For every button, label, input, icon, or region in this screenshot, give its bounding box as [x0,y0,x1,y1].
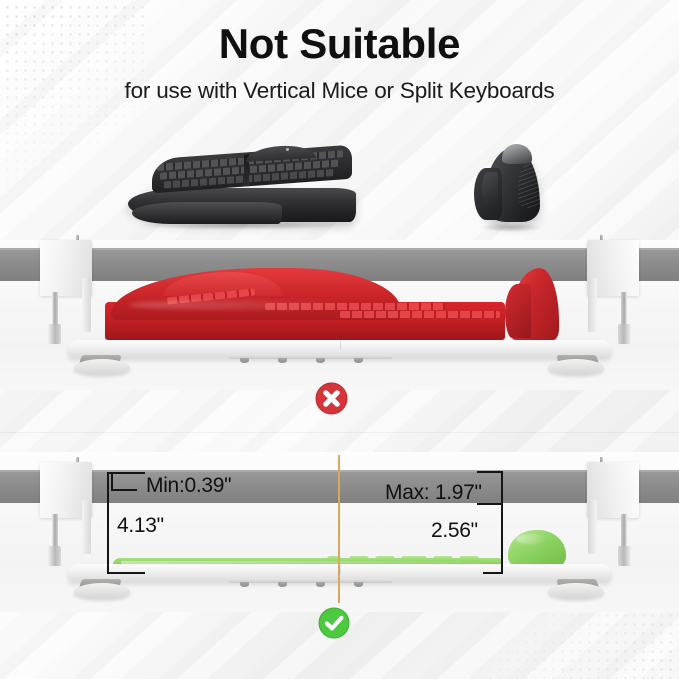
clamp-screw-rod [621,292,627,328]
red-split-keyboard-silhouette [105,268,505,340]
infographic-canvas: Not Suitable for use with Vertical Mice … [0,0,679,679]
tray-slide-rail [228,579,393,583]
dim-label-min-thickness: Min:0.39" [146,474,231,498]
tray-rail-bump [354,358,363,363]
tray-foot-left [74,577,130,599]
clamp-arm [588,278,597,332]
keyboard-highlight [129,300,359,310]
mouse-button [482,172,498,206]
keyboard-led-icon [286,148,289,151]
foot-pad [548,359,604,375]
mouse-grip-texture [518,164,544,208]
dim-tick-right-bottom [483,572,503,574]
tray-foot-left [74,353,130,375]
clamp-arm [588,500,597,554]
dim-tick-left-top [107,472,145,474]
dim-line-left-clearance [107,472,109,574]
keyboard-tray [68,340,611,366]
mouse-highlight [516,534,546,544]
mouse-shadow [480,223,542,232]
dim-label-left-clearance: 4.13" [117,514,164,538]
vertical-mouse-photo [470,142,554,234]
dim-tick-min-bottom [111,489,137,491]
tray-rail-bump [240,582,249,587]
tray-rail-bump [354,582,363,587]
x-icon [315,382,348,415]
foot-pad [74,583,130,599]
header: Not Suitable for use with Vertical Mice … [0,22,679,103]
dim-line-right-clearance [501,503,503,573]
dim-label-max-thickness: Max: 1.97" [385,481,482,505]
foot-pad [74,359,130,375]
tray-foot-right [548,353,604,375]
page-subtitle: for use with Vertical Mice or Split Keyb… [0,79,679,104]
tray-seam [340,341,341,350]
clamp-screw-rod [52,514,58,550]
clamp-knob [618,324,631,344]
tray-rail-bump [316,358,325,363]
mouse-top-cap [502,144,532,164]
foot-pad [548,583,604,599]
split-keyboard-photo [128,146,356,232]
check-icon [318,607,350,639]
dim-line-max [501,471,503,504]
page-title: Not Suitable [0,22,679,67]
dim-tick-left-bottom [107,572,145,574]
mouse-face [505,284,531,338]
tray-seam [340,565,341,574]
tray-foot-right [548,577,604,599]
incompatible-tray-scene [0,240,679,390]
clamp-arm [82,500,91,554]
tray-rail-bump [240,358,249,363]
incompatible-devices-panel [0,138,679,248]
dim-tick-max-top [477,471,503,473]
tray-rail-bump [316,582,325,587]
clamp-knob [48,324,61,344]
keyboard-palm-rest [132,202,282,224]
tray-rail-bump [278,358,287,363]
tray-slide-rail [228,355,393,359]
clamp-knob [48,546,61,566]
dim-line-min [111,472,113,490]
clamp-arm [82,278,91,332]
keycap-ridge [340,311,500,318]
tray-rail-bump [278,582,287,587]
clamp-screw-rod [621,514,627,550]
dim-label-right-clearance: 2.56" [431,519,478,543]
clamp-knob [618,546,631,566]
clamp-screw-rod [52,292,58,328]
keyboard-keybed [152,145,352,194]
center-reference-line [338,455,340,603]
red-vertical-mouse-silhouette [505,268,561,340]
